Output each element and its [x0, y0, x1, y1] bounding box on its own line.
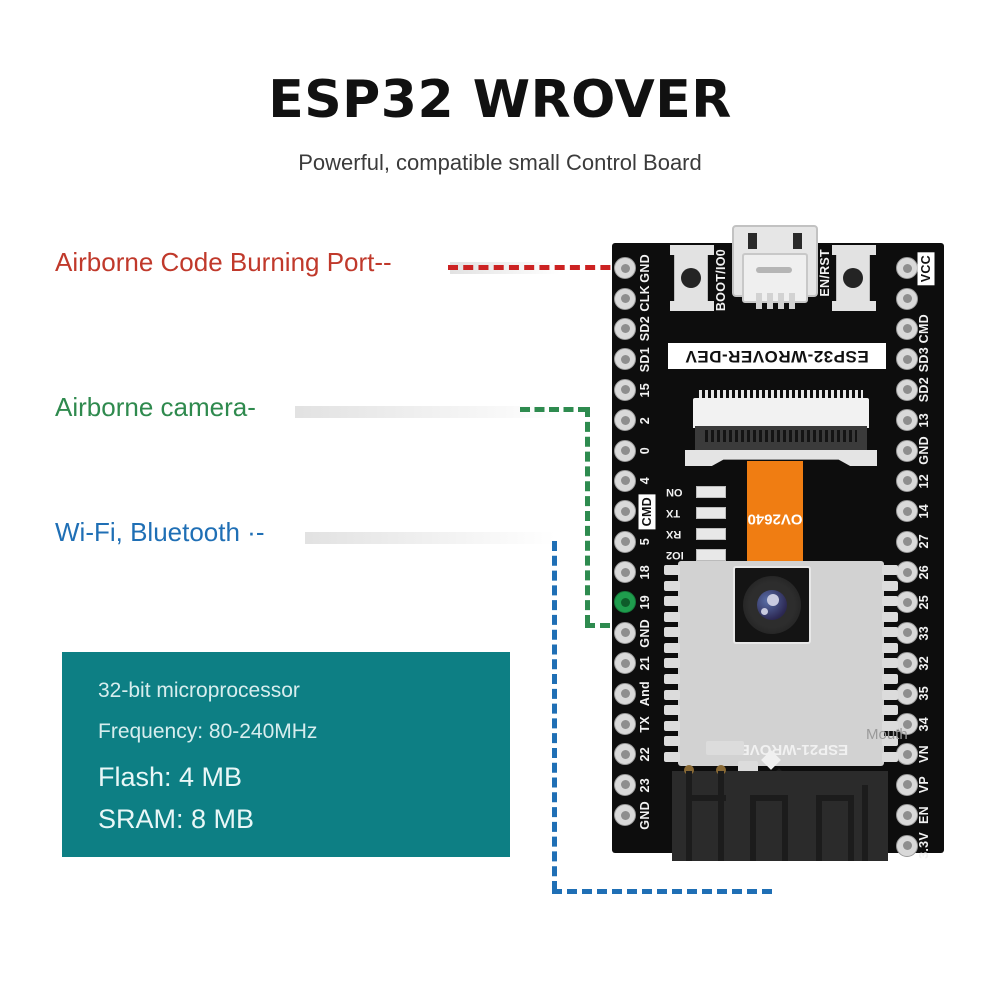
pin-left-18[interactable]: 18	[614, 557, 660, 587]
module-castellations-left	[664, 565, 680, 762]
pin-label: 13	[918, 413, 931, 428]
pin-pad[interactable]	[896, 440, 918, 462]
pin-right-vn[interactable]: VN	[896, 739, 942, 769]
antenna-trace	[816, 795, 822, 861]
pin-pad[interactable]	[614, 622, 636, 644]
pin-label: VN	[918, 745, 931, 763]
antenna-trace	[750, 795, 756, 861]
module-castellation	[882, 612, 898, 622]
pin-right-sd2[interactable]: SD2	[896, 375, 942, 405]
usb-leg	[756, 293, 762, 309]
pin-label: 19	[639, 595, 652, 610]
pin-left-sd2[interactable]: SD2	[614, 314, 660, 344]
pin-label: SD1	[639, 347, 652, 372]
esp-module: ESP21-WROVER-E	[678, 561, 884, 766]
spec-box: 32-bit microprocessor Frequency: 80-240M…	[62, 652, 510, 857]
pin-left-cmd[interactable]: CMD	[614, 496, 660, 526]
module-castellation	[664, 674, 680, 684]
pin-pad[interactable]	[614, 652, 636, 674]
spec-line-flash: Flash: 4 MB	[62, 762, 242, 793]
led-label: TX	[666, 507, 692, 519]
pin-label: TX	[639, 716, 652, 733]
boot-button-cap	[670, 245, 714, 255]
module-castellation	[882, 596, 898, 606]
pin-label: 2	[639, 417, 652, 424]
pin-left-21[interactable]: 21	[614, 648, 660, 678]
lens-highlight	[767, 594, 779, 606]
led-pad	[696, 549, 726, 561]
pin-pad[interactable]	[896, 500, 918, 522]
pin-pad[interactable]	[614, 440, 636, 462]
pin-label: 14	[918, 504, 931, 519]
pin-label: 35	[918, 686, 931, 701]
infographic-page: ESP32 WROVER Powerful, compatible small …	[0, 0, 1000, 1000]
pin-pad[interactable]	[614, 683, 636, 705]
pin-label: CLK	[639, 285, 652, 312]
module-castellation	[882, 565, 898, 575]
pin-pad[interactable]	[614, 288, 636, 310]
pin-left-4[interactable]: 4	[614, 466, 660, 496]
watermark-text: Mouth	[866, 726, 908, 743]
pin-label: 18	[639, 565, 652, 580]
led-indicator-group: ONTXRXIO2	[666, 483, 726, 567]
pin-right-14[interactable]: 14	[896, 496, 942, 526]
fpc-top	[693, 398, 869, 428]
pin-label: 23	[639, 778, 652, 793]
module-castellation	[882, 705, 898, 715]
antenna-trace	[820, 795, 852, 801]
module-castellation	[664, 721, 680, 731]
pin-right-13[interactable]: 13	[896, 405, 942, 435]
pin-right-gnd[interactable]: GND	[896, 435, 942, 465]
pin-label: CMD	[639, 494, 656, 529]
module-castellation	[664, 581, 680, 591]
pin-label: 22	[639, 747, 652, 762]
callout-label-wifi: Wi-Fi, Bluetooth ·-	[55, 517, 265, 548]
antenna-trace	[862, 785, 868, 861]
callout-label-burning-port: Airborne Code Burning Port--	[55, 247, 392, 278]
pin-pad[interactable]	[614, 257, 636, 279]
pin-pad[interactable]	[614, 531, 636, 553]
pin-left-sd1[interactable]: SD1	[614, 344, 660, 374]
pin-right-cmd[interactable]: CMD	[896, 314, 942, 344]
pin-right-33v[interactable]: 3.3V	[896, 830, 942, 860]
module-castellation	[882, 752, 898, 762]
boot-button-cap	[670, 301, 714, 311]
leader-line-wifi-v	[552, 541, 557, 891]
pin-left-clk[interactable]: CLK	[614, 283, 660, 313]
pin-pad[interactable]	[896, 774, 918, 796]
pin-label: SD3	[918, 347, 931, 372]
module-castellation	[664, 565, 680, 575]
reset-button-cap	[832, 245, 876, 255]
antenna-trace	[754, 795, 786, 801]
boot-button-label: BOOT/IO0	[714, 249, 728, 311]
pin-pad[interactable]	[614, 500, 636, 522]
pin-pad[interactable]	[614, 804, 636, 826]
pin-pad[interactable]	[896, 348, 918, 370]
dev-board: GNDCLKSD2SD115204CMD51819GND21AndTX2223G…	[612, 243, 944, 853]
spec-line-frequency: Frequency: 80-240MHz	[62, 720, 317, 744]
usb-leg	[789, 293, 795, 309]
pin-label: 32	[918, 656, 931, 671]
camera-ribbon-cable: OV2640	[747, 461, 803, 573]
antenna-trace	[686, 771, 692, 861]
callout-label-camera: Airborne camera-	[55, 392, 256, 423]
pin-pad[interactable]	[896, 379, 918, 401]
pin-header-right: VCCCMDSD3SD213GND121427262533323534VNVPE…	[896, 253, 942, 861]
pcb-antenna	[672, 771, 888, 861]
pin-pad[interactable]	[896, 835, 918, 857]
pin-pad[interactable]	[614, 318, 636, 340]
pin-right-vcc[interactable]: VCC	[896, 253, 942, 283]
pin-pad[interactable]	[614, 561, 636, 583]
pin-right-25[interactable]: 25	[896, 587, 942, 617]
pin-left-tx[interactable]: TX	[614, 709, 660, 739]
led-pad	[696, 507, 726, 519]
pin-left-19[interactable]: 19	[614, 587, 660, 617]
pin-label: 26	[918, 565, 931, 580]
usb-slot	[756, 267, 792, 273]
module-castellation	[882, 581, 898, 591]
pin-pad[interactable]	[896, 470, 918, 492]
page-subtitle: Powerful, compatible small Control Board	[0, 150, 1000, 176]
pin-label: GND	[918, 436, 931, 465]
pin-right-blank[interactable]	[896, 283, 942, 313]
pin-left-and[interactable]: And	[614, 678, 660, 708]
pin-label: CMD	[918, 314, 931, 343]
reset-button-cap	[832, 301, 876, 311]
smd-resistor	[706, 741, 744, 755]
pin-label: 15	[639, 383, 652, 398]
board-silkscreen-name: ESP32-WROVER-DEV	[668, 343, 886, 369]
camera-ribbon-label: OV2640	[747, 511, 802, 528]
pin-pad[interactable]	[614, 379, 636, 401]
pin-pad[interactable]	[896, 288, 918, 310]
leader-line-camera-v	[585, 407, 590, 625]
module-castellation	[664, 596, 680, 606]
module-castellation	[664, 690, 680, 700]
page-title: ESP32 WROVER	[0, 72, 1000, 129]
pin-label: SD2	[918, 377, 931, 402]
pin-pad[interactable]	[896, 591, 918, 613]
pin-label: EN	[918, 806, 931, 824]
pin-label: 3.3V	[918, 832, 931, 859]
usb-leg	[767, 293, 773, 309]
pin-pad[interactable]	[614, 743, 636, 765]
pin-pad[interactable]	[896, 804, 918, 826]
pin-label: GND	[639, 801, 652, 830]
module-castellation	[664, 705, 680, 715]
module-castellation	[664, 627, 680, 637]
pin-pad[interactable]	[614, 470, 636, 492]
pin-right-33[interactable]: 33	[896, 618, 942, 648]
led-indicator-tx: TX	[666, 504, 726, 521]
usb-leg	[778, 293, 784, 309]
antenna-trace	[848, 795, 854, 861]
pin-pad[interactable]	[896, 622, 918, 644]
pin-label: GND	[639, 619, 652, 648]
pin-left-22[interactable]: 22	[614, 739, 660, 769]
pin-label: And	[639, 681, 652, 706]
led-label: ON	[666, 486, 692, 498]
pin-left-0[interactable]: 0	[614, 435, 660, 465]
pin-pad[interactable]	[896, 561, 918, 583]
pin-label: 12	[918, 474, 931, 489]
camera-lens	[733, 566, 811, 644]
pin-right-vp[interactable]: VP	[896, 770, 942, 800]
pin-left-15[interactable]: 15	[614, 375, 660, 405]
reset-button-label: EN/RST	[818, 249, 832, 297]
pin-header-left: GNDCLKSD2SD115204CMD51819GND21AndTX2223G…	[614, 253, 660, 830]
spec-line-sram: SRAM: 8 MB	[62, 804, 254, 835]
pin-label: 0	[639, 447, 652, 454]
leader-line-wifi-h	[552, 889, 772, 894]
boot-button[interactable]	[674, 251, 708, 305]
camera-fpc-connector[interactable]	[685, 398, 877, 470]
led-pad	[696, 486, 726, 498]
pin-pad[interactable]	[896, 409, 918, 431]
pin-pad[interactable]	[896, 743, 918, 765]
pin-right-en[interactable]: EN	[896, 800, 942, 830]
module-castellation	[664, 612, 680, 622]
pin-pad[interactable]	[896, 652, 918, 674]
pin-left-gnd[interactable]: GND	[614, 800, 660, 830]
reset-button[interactable]	[836, 251, 870, 305]
pin-left-5[interactable]: 5	[614, 527, 660, 557]
pin-label: VP	[918, 776, 931, 793]
module-castellation	[664, 643, 680, 653]
module-castellation	[664, 658, 680, 668]
pin-pad[interactable]	[896, 683, 918, 705]
pin-label: 34	[918, 717, 931, 732]
led-pad	[696, 528, 726, 540]
pin-label: VCC	[918, 252, 935, 285]
module-castellation	[882, 627, 898, 637]
led-indicator-rx: RX	[666, 525, 726, 542]
pin-pad[interactable]	[614, 591, 636, 613]
pin-label: 25	[918, 595, 931, 610]
pin-right-sd3[interactable]: SD3	[896, 344, 942, 374]
board-silkscreen-text: ESP32-WROVER-DEV	[685, 346, 869, 366]
leader-line-camera-h1	[520, 407, 588, 412]
pin-label: 21	[639, 656, 652, 671]
pin-label: 4	[639, 477, 652, 484]
pin-label: SD2	[639, 316, 652, 341]
antenna-trace	[718, 771, 724, 861]
fpc-pins	[705, 430, 857, 442]
module-castellation	[882, 690, 898, 700]
pin-pad[interactable]	[614, 774, 636, 796]
antenna-trace	[782, 795, 788, 861]
pin-label: 33	[918, 626, 931, 641]
lens-highlight	[761, 608, 768, 615]
pin-left-2[interactable]: 2	[614, 405, 660, 435]
led-indicator-on: ON	[666, 483, 726, 500]
pin-pad[interactable]	[614, 348, 636, 370]
usb-notch-left	[748, 233, 757, 249]
pin-pad[interactable]	[614, 713, 636, 735]
pin-right-35[interactable]: 35	[896, 678, 942, 708]
pin-pad[interactable]	[896, 318, 918, 340]
pin-right-12[interactable]: 12	[896, 466, 942, 496]
antenna-trace	[692, 795, 726, 801]
pin-right-27[interactable]: 27	[896, 527, 942, 557]
ghost-trail-wifi	[305, 532, 555, 544]
pin-label: GND	[639, 254, 652, 283]
led-label: IO2	[666, 549, 692, 561]
led-label: RX	[666, 528, 692, 540]
pin-left-gnd[interactable]: GND	[614, 618, 660, 648]
module-castellation	[882, 643, 898, 653]
spec-line-processor: 32-bit microprocessor	[62, 679, 300, 703]
usb-shell	[742, 253, 808, 303]
usb-notch-right	[793, 233, 802, 249]
pin-label: 27	[918, 534, 931, 549]
pin-pad[interactable]	[896, 531, 918, 553]
pin-left-23[interactable]: 23	[614, 770, 660, 800]
pin-right-32[interactable]: 32	[896, 648, 942, 678]
module-castellation	[882, 674, 898, 684]
pin-right-26[interactable]: 26	[896, 557, 942, 587]
pin-pad[interactable]	[896, 257, 918, 279]
micro-usb-connector[interactable]	[732, 225, 818, 297]
pin-left-gnd[interactable]: GND	[614, 253, 660, 283]
pin-pad[interactable]	[614, 409, 636, 431]
pin-label: 5	[639, 538, 652, 545]
module-castellation	[882, 658, 898, 668]
